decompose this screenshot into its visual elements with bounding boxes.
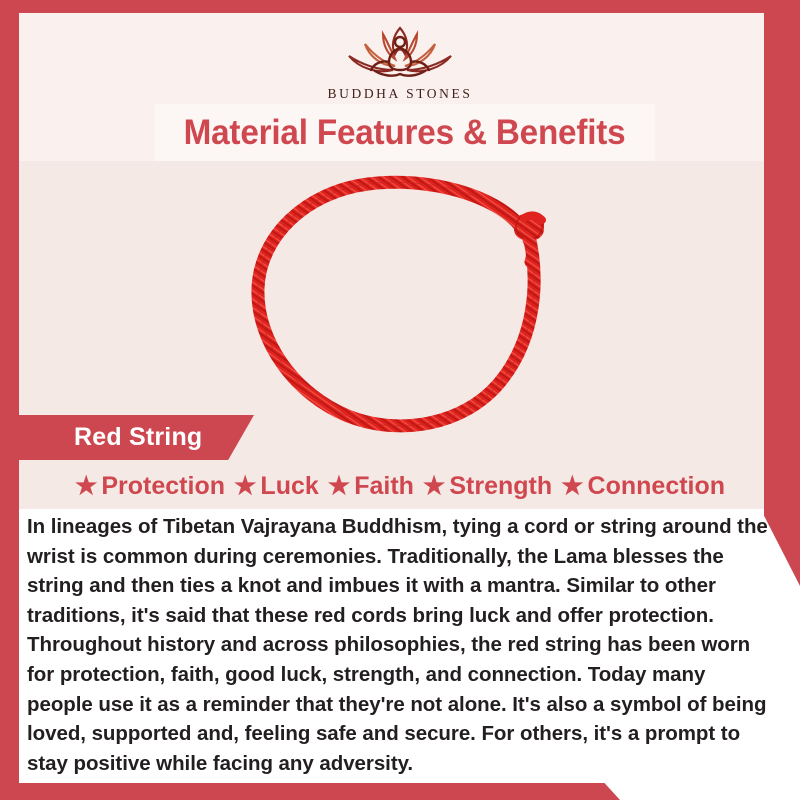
benefit-item-connection: ★ Connection	[561, 472, 725, 501]
benefits-row: ★ Protection ★ Luck ★ Faith ★ Strength ★…	[19, 466, 781, 506]
benefit-item-luck: ★ Luck	[234, 472, 319, 501]
lotus-meditation-icon	[325, 14, 475, 84]
product-photo	[228, 170, 576, 440]
bottom-red-bar	[0, 783, 620, 800]
bracelet-knot	[514, 214, 544, 262]
star-icon: ★	[234, 474, 256, 499]
top-red-bar	[0, 0, 800, 13]
title-banner: Material Features & Benefits	[155, 104, 655, 161]
description-paragraph: In lineages of Tibetan Vajrayana Buddhis…	[27, 512, 775, 778]
star-icon: ★	[561, 474, 583, 499]
material-label: Red String	[74, 423, 202, 452]
benefit-item-protection: ★ Protection	[75, 472, 225, 501]
benefit-label: Connection	[588, 472, 726, 501]
star-icon: ★	[328, 474, 350, 499]
benefit-item-faith: ★ Faith	[328, 472, 414, 501]
benefit-item-strength: ★ Strength	[423, 472, 552, 501]
star-icon: ★	[75, 474, 97, 499]
benefit-label: Faith	[354, 472, 414, 501]
left-red-band	[0, 0, 19, 800]
brand-name: BUDDHA STONES	[0, 86, 800, 102]
material-ribbon: Red String	[19, 415, 254, 460]
star-icon: ★	[423, 474, 445, 499]
page-title: Material Features & Benefits	[184, 113, 626, 153]
brand-logo: BUDDHA STONES	[0, 14, 800, 102]
benefit-label: Strength	[449, 472, 552, 501]
benefit-label: Protection	[101, 472, 225, 501]
benefit-label: Luck	[260, 472, 318, 501]
infographic-canvas: BUDDHA STONES Material Features & Benefi…	[0, 0, 800, 800]
